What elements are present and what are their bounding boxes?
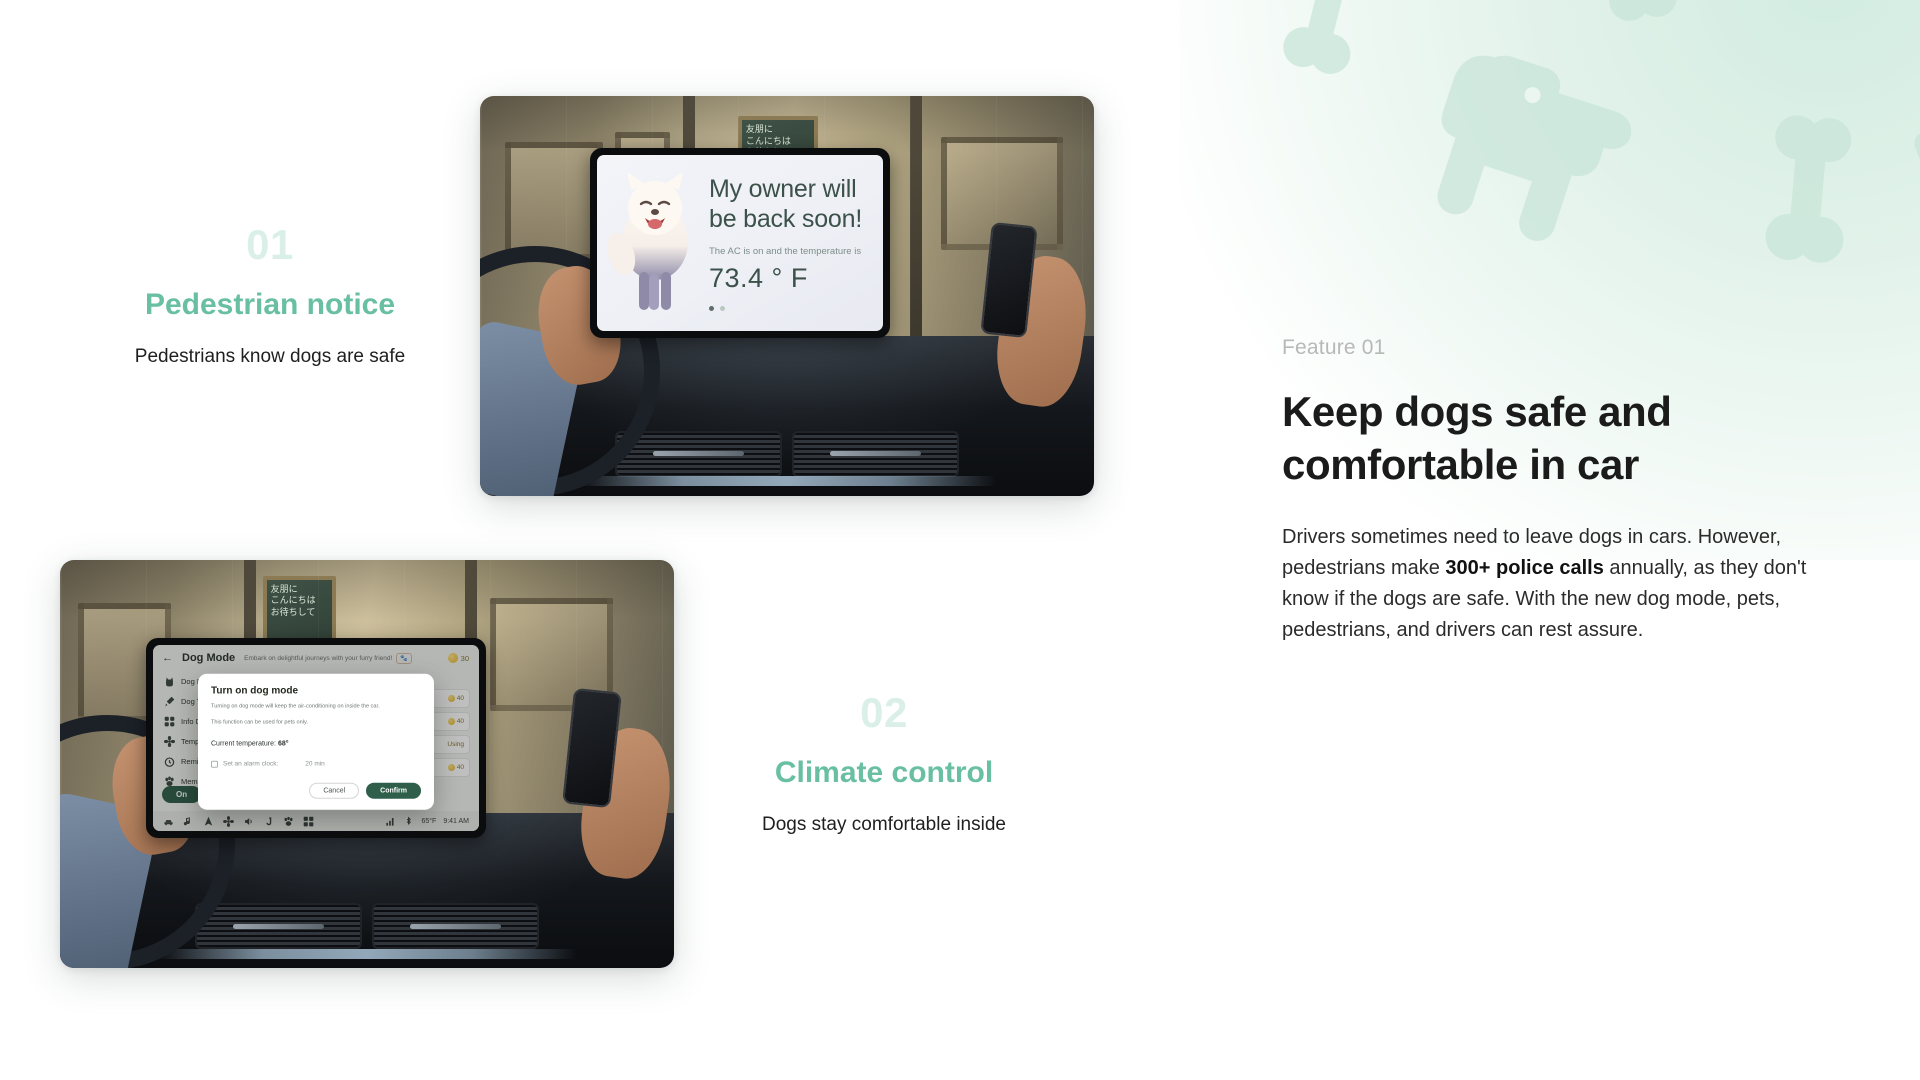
screenshot-climate-control: 友朋にこんにちはお待ちして — [60, 560, 674, 968]
feature-02-title: Climate control — [674, 755, 1094, 791]
turn-on-dog-mode-dialog: Turn on dog mode Turning on dog mode wil… — [198, 673, 434, 810]
features-column: 01 Pedestrian notice Pedestrians know do… — [0, 0, 1180, 1080]
feature-02-subtitle: Dogs stay comfortable inside — [674, 813, 1094, 838]
feature-block-02: 友朋にこんにちはお待ちして — [60, 560, 1140, 968]
feature-01-number: 01 — [60, 223, 480, 267]
feature-block-01: 01 Pedestrian notice Pedestrians know do… — [60, 96, 1140, 496]
dialog-alarm-row[interactable]: Set an alarm clock: 20 min — [211, 761, 421, 768]
dashboard-trim — [578, 476, 996, 486]
alarm-label: Set an alarm clock: — [223, 761, 278, 768]
alarm-checkbox[interactable] — [211, 761, 218, 768]
screen-content: My owner will be back soon! The AC is on… — [597, 155, 883, 331]
feature-02-caption: 02 Climate control Dogs stay comfortable… — [674, 691, 1094, 838]
feature-copy-column: Feature 01 Keep dogs safe and comfortabl… — [1282, 0, 1920, 1080]
dog-illustration — [607, 168, 703, 318]
ac-vent-left — [195, 903, 362, 949]
notice-heading: My owner will be back soon! — [709, 175, 867, 234]
ac-vents — [195, 903, 539, 949]
carousel-dot-active[interactable] — [709, 306, 714, 311]
dashboard-trim — [158, 949, 576, 959]
ac-vent-right — [372, 903, 539, 949]
feature-01-title: Pedestrian notice — [60, 287, 480, 323]
carousel-dots[interactable] — [709, 306, 867, 311]
screen-content: ← Dog Mode Embark on delightful journeys… — [153, 645, 479, 831]
notice-ac-line: The AC is on and the temperature is — [709, 246, 867, 257]
infotainment-screen[interactable]: ← Dog Mode Embark on delightful journeys… — [146, 638, 486, 838]
cancel-button[interactable]: Cancel — [309, 783, 359, 799]
feature-copy-inner: Feature 01 Keep dogs safe and comfortabl… — [1282, 336, 1827, 647]
carousel-dot-inactive[interactable] — [720, 306, 725, 311]
dialog-actions: Cancel Confirm — [211, 783, 421, 799]
alarm-value[interactable]: 20 min — [305, 761, 325, 768]
dialog-description-line-2: This function can be used for pets only. — [211, 718, 421, 728]
feature-01-caption: 01 Pedestrian notice Pedestrians know do… — [60, 223, 480, 370]
notice-text-block: My owner will be back soon! The AC is on… — [703, 175, 867, 311]
temp-value: 68° — [278, 741, 289, 748]
feature-01-subtitle: Pedestrians know dogs are safe — [60, 345, 480, 370]
notice-temperature: 73.4 ° F — [709, 263, 867, 294]
temp-label: Current temperature: — [211, 741, 276, 748]
dialog-description-line-1: Turning on dog mode will keep the air-co… — [211, 702, 421, 712]
feature-eyebrow: Feature 01 — [1282, 336, 1827, 360]
pedestrian-notice-card: My owner will be back soon! The AC is on… — [597, 155, 883, 331]
screenshot-pedestrian-notice: 友朋にこんにちはお待ちして — [480, 96, 1094, 496]
body-highlight: 300+ police calls — [1445, 557, 1603, 579]
infotainment-screen[interactable]: My owner will be back soon! The AC is on… — [590, 148, 890, 338]
confirm-button[interactable]: Confirm — [366, 783, 421, 799]
feature-body-copy: Drivers sometimes need to leave dogs in … — [1282, 522, 1827, 647]
dialog-title: Turn on dog mode — [211, 685, 421, 696]
page-title: Keep dogs safe and comfortable in car — [1282, 386, 1827, 492]
feature-02-number: 02 — [674, 691, 1094, 735]
ac-vents — [615, 431, 959, 477]
dog-mode-app: ← Dog Mode Embark on delightful journeys… — [153, 645, 479, 831]
dialog-current-temperature: Current temperature: 68° — [211, 741, 421, 748]
ac-vent-right — [792, 431, 959, 477]
